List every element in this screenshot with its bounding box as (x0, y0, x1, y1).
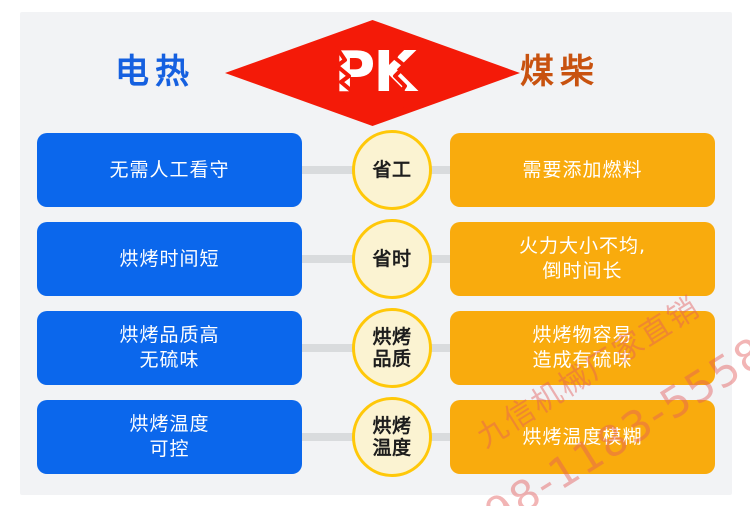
topic-circle[interactable]: 省时 (352, 219, 432, 299)
right-drawback-pill[interactable]: 火力大小不均,倒时间长 (450, 222, 715, 296)
left-benefit-pill[interactable]: 烘烤时间短 (37, 222, 302, 296)
pk-badge: PK (225, 20, 520, 126)
pk-label: PK (225, 20, 520, 126)
left-benefit-pill[interactable]: 烘烤品质高无硫味 (37, 311, 302, 385)
topic-circle[interactable]: 省工 (352, 130, 432, 210)
left-side-title: 电热 (115, 52, 195, 92)
right-side-title: 煤柴 (520, 52, 600, 92)
left-benefit-pill[interactable]: 烘烤温度可控 (37, 400, 302, 474)
right-drawback-pill[interactable]: 烘烤物容易造成有硫味 (450, 311, 715, 385)
comparison-row: 无需人工看守 省工 需要添加燃料 (20, 133, 732, 207)
comparison-row: 烘烤时间短 省时 火力大小不均,倒时间长 (20, 222, 732, 296)
right-drawback-pill[interactable]: 需要添加燃料 (450, 133, 715, 207)
topic-circle[interactable]: 烘烤品质 (352, 308, 432, 388)
topic-circle[interactable]: 烘烤温度 (352, 397, 432, 477)
header: 电热 PK 煤柴 (20, 12, 732, 130)
infographic-canvas: 电热 PK 煤柴 无需人工看守 省工 需要添加燃料 烘烤时间短 省时 火力大小不… (0, 0, 750, 506)
right-drawback-pill[interactable]: 烘烤温度模糊 (450, 400, 715, 474)
comparison-row: 烘烤品质高无硫味 烘烤品质 烘烤物容易造成有硫味 (20, 311, 732, 385)
left-benefit-pill[interactable]: 无需人工看守 (37, 133, 302, 207)
comparison-row: 烘烤温度可控 烘烤温度 烘烤温度模糊 (20, 400, 732, 474)
